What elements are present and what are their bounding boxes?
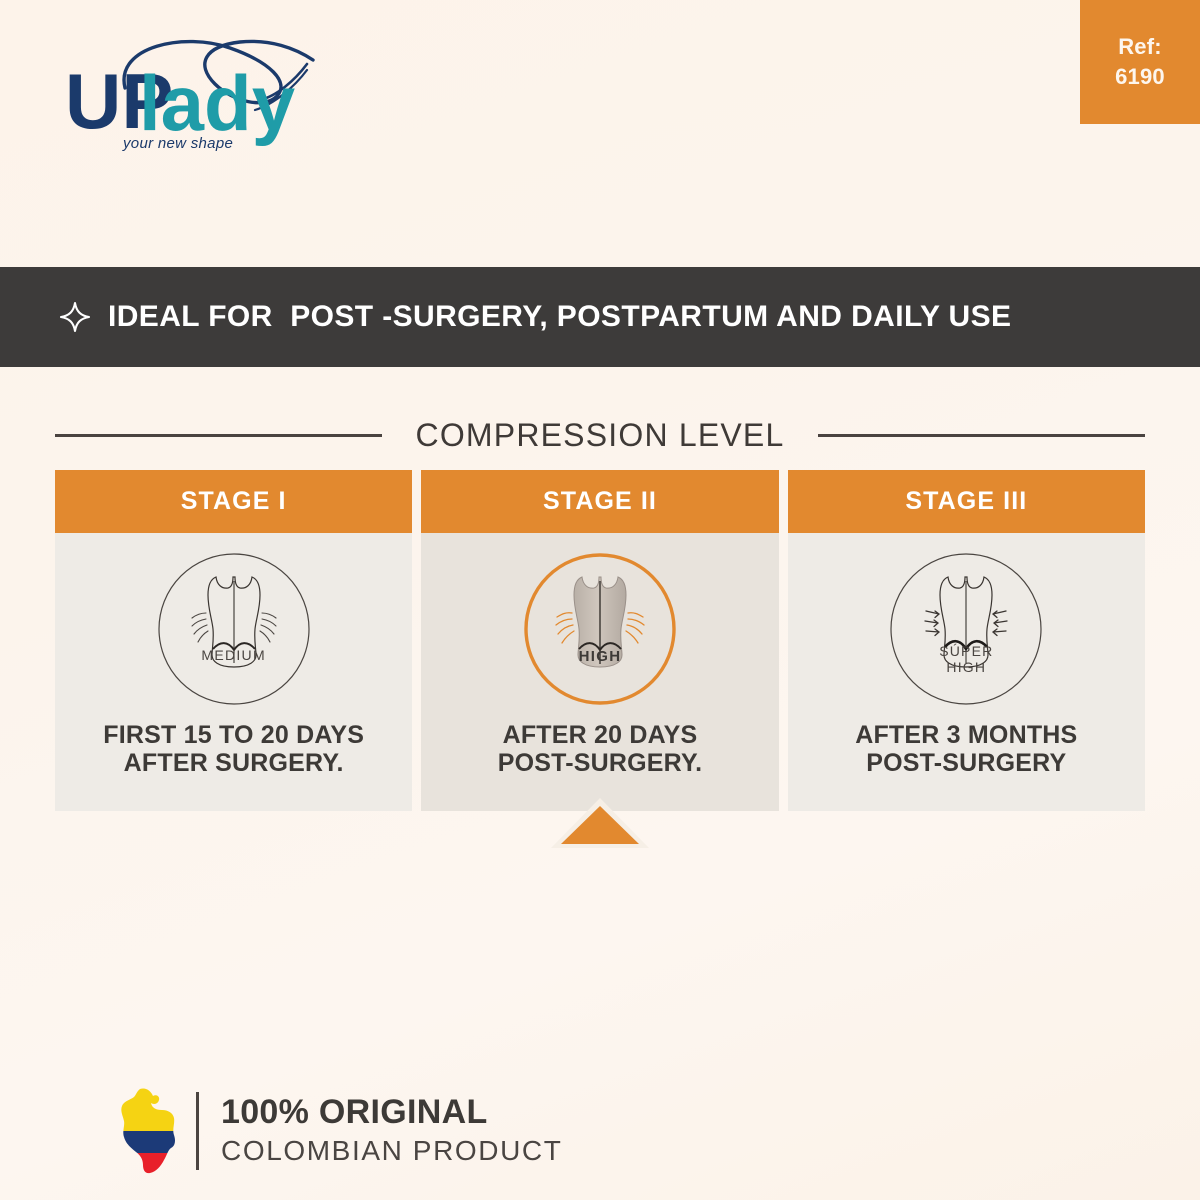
stage-description-line1-3: AFTER 3 MONTHS	[855, 721, 1077, 749]
compression-badge-3: SÚPER HIGH	[888, 551, 1044, 707]
footer-divider	[196, 1092, 199, 1170]
stage-body-2: HIGH AFTER 20 DAYS POST-SURGERY.	[421, 533, 778, 811]
stage-description-2: AFTER 20 DAYS POST-SURGERY.	[498, 721, 703, 777]
svg-text:lady: lady	[139, 59, 295, 147]
stage-description-line1-1: FIRST 15 TO 20 DAYS	[103, 721, 364, 749]
product-infographic-page: UP lady your new shape Ref: 6190 IDEAL F…	[0, 0, 1200, 1200]
compression-level-title: COMPRESSION LEVEL	[416, 417, 785, 454]
logo-tagline: your new shape	[123, 135, 233, 152]
torso-garment-icon-medium	[156, 551, 312, 707]
compression-badge-2: HIGH	[522, 551, 678, 707]
torso-garment-icon-high	[522, 551, 678, 707]
level-label-2: HIGH	[522, 648, 678, 665]
level-label-3: SÚPER HIGH	[888, 643, 1044, 675]
stage-description-line1-2: AFTER 20 DAYS	[498, 721, 703, 749]
ideal-for-banner: IDEAL FOR POST -SURGERY, POSTPARTUM AND …	[0, 267, 1200, 367]
stage-description-1: FIRST 15 TO 20 DAYS AFTER SURGERY.	[103, 721, 364, 777]
stage-card-3[interactable]: STAGE III	[788, 470, 1145, 811]
stage-description-3: AFTER 3 MONTHS POST-SURGERY	[855, 721, 1077, 777]
stage-card-1[interactable]: STAGE I	[55, 470, 412, 811]
selected-stage-pointer	[550, 797, 650, 849]
uplady-logo[interactable]: UP lady your new shape	[55, 18, 355, 168]
stage-header-2: STAGE II	[421, 470, 778, 533]
footer-sub-text: COLOMBIAN PRODUCT	[221, 1134, 562, 1168]
stage-header-1: STAGE I	[55, 470, 412, 533]
stage-description-line2-1: AFTER SURGERY.	[103, 749, 364, 777]
colombia-map-flag-icon	[112, 1087, 184, 1175]
footer-main-text: 100% ORIGINAL	[221, 1095, 562, 1131]
stage-header-3: STAGE III	[788, 470, 1145, 533]
footer: 100% ORIGINAL COLOMBIAN PRODUCT	[112, 1085, 562, 1177]
level-label-3-line2: HIGH	[888, 659, 1044, 675]
level-label-3-line1: SÚPER	[888, 643, 1044, 659]
compression-level-title-row: COMPRESSION LEVEL	[55, 412, 1145, 458]
title-rule-right	[818, 434, 1145, 437]
ref-badge: Ref: 6190	[1080, 0, 1200, 124]
sparkle-diamond-icon	[58, 300, 92, 334]
banner-text: IDEAL FOR POST -SURGERY, POSTPARTUM AND …	[108, 300, 1011, 334]
stage-body-3: SÚPER HIGH AFTER 3 MONTHS POST-SURGERY	[788, 533, 1145, 811]
ref-label: Ref:	[1118, 32, 1162, 62]
stage-description-line2-2: POST-SURGERY.	[498, 749, 703, 777]
level-label-1: MEDIUM	[156, 647, 312, 663]
header: UP lady your new shape Ref: 6190	[0, 0, 1200, 265]
compression-badge-1: MEDIUM	[156, 551, 312, 707]
torso-garment-icon-super-high	[888, 551, 1044, 707]
ref-value: 6190	[1115, 62, 1165, 92]
stage-body-1: MEDIUM FIRST 15 TO 20 DAYS AFTER SURGERY…	[55, 533, 412, 811]
stage-description-line2-3: POST-SURGERY	[855, 749, 1077, 777]
footer-text: 100% ORIGINAL COLOMBIAN PRODUCT	[221, 1095, 562, 1167]
title-rule-left	[55, 434, 382, 437]
stage-card-2[interactable]: STAGE II	[421, 470, 778, 811]
stage-cards: STAGE I	[55, 470, 1145, 811]
